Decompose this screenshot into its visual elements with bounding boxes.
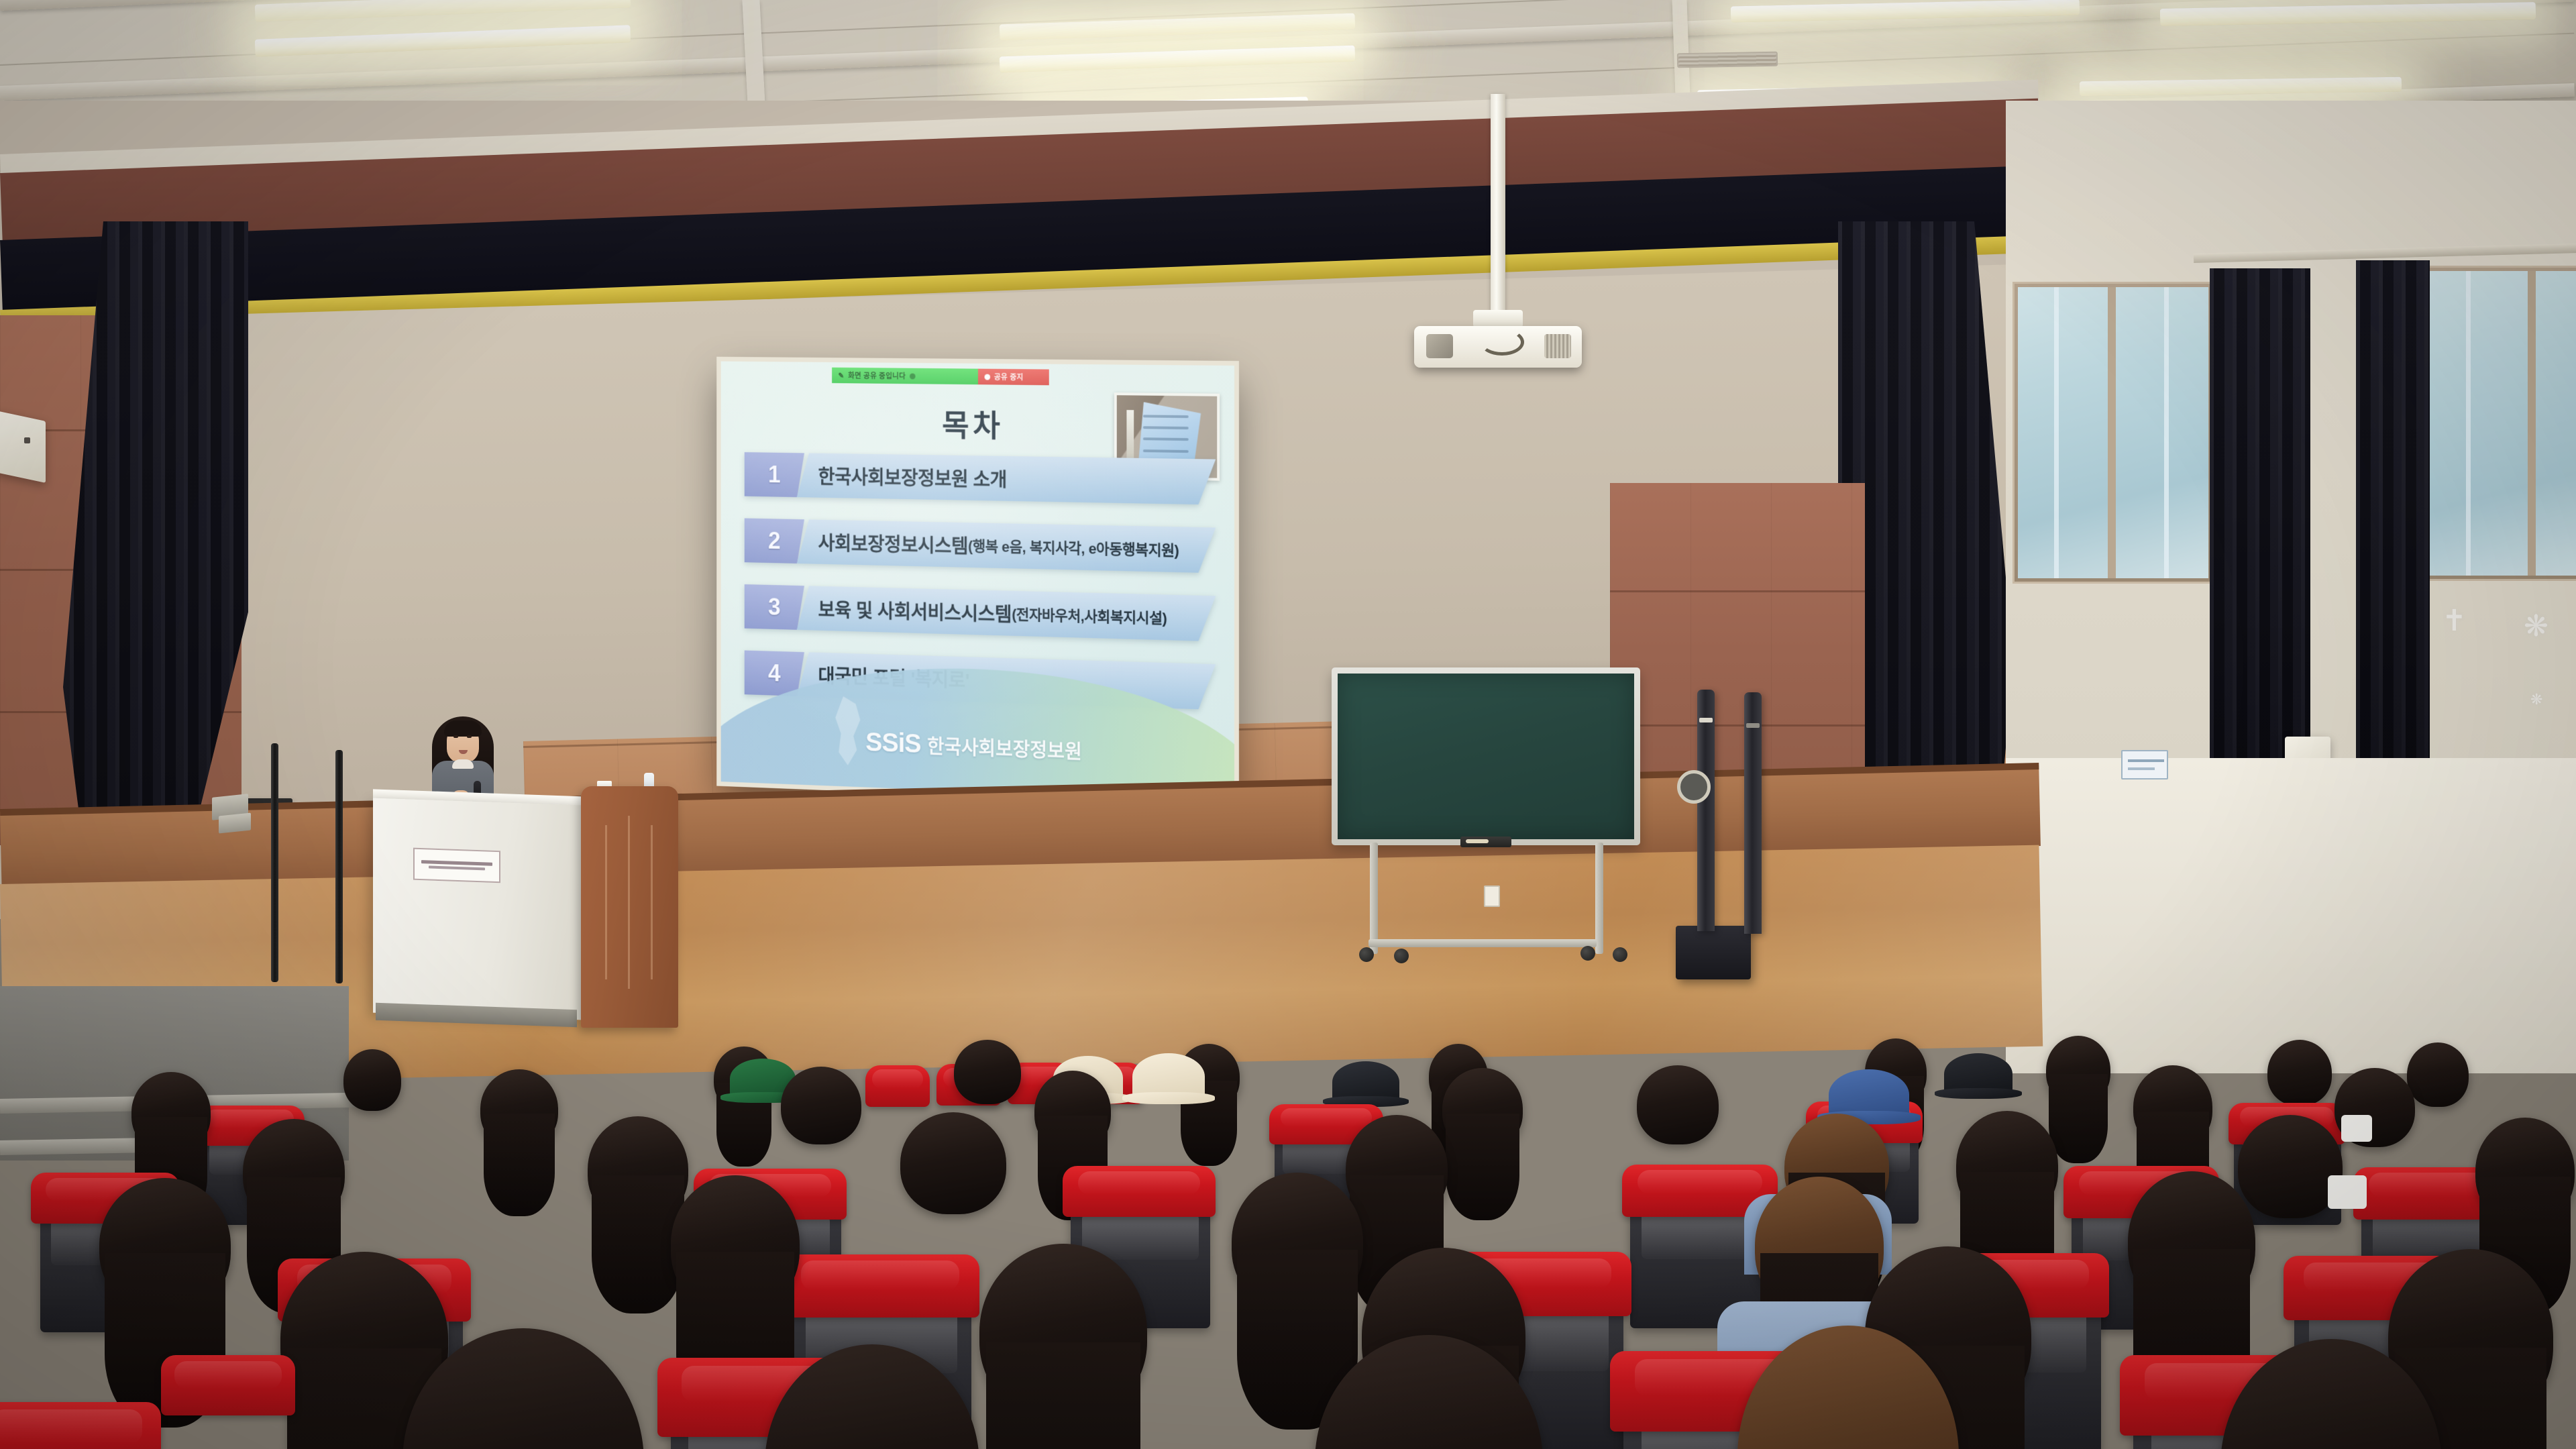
projector-cable xyxy=(1480,329,1524,356)
toc-label-main: 보육 및 사회서비스시스템 xyxy=(818,594,1012,627)
audience-head xyxy=(1637,1065,1719,1144)
audience-head xyxy=(979,1244,1147,1419)
ssis-logo-mark: SSiS xyxy=(865,728,920,759)
face-mask xyxy=(2341,1115,2372,1142)
presenter-eye xyxy=(467,735,472,738)
audience-head xyxy=(1346,1115,1448,1222)
wall-notice-sign xyxy=(2121,750,2168,780)
cap xyxy=(1944,1053,2012,1095)
toc-label-main: 한국사회보장정보원 소개 xyxy=(818,462,1007,492)
seat[interactable] xyxy=(161,1355,295,1415)
audience-head xyxy=(781,1067,861,1144)
cap xyxy=(1332,1061,1399,1103)
audience-head xyxy=(2407,1042,2469,1107)
slide-title: 목차 xyxy=(721,398,1234,449)
wall-clock-or-vent-icon xyxy=(1677,770,1711,804)
cross-decal-icon: ✝ xyxy=(2442,604,2467,638)
stop-share-label: 공유 중지 xyxy=(994,372,1024,382)
seat[interactable] xyxy=(781,1254,979,1318)
window-mullion xyxy=(2528,271,2536,576)
wall-speaker-left xyxy=(0,411,46,483)
mic-stand-head xyxy=(219,812,251,833)
screen-share-toolbar[interactable]: ✎ 화면 공유 중입니다 공유 중지 xyxy=(832,368,1049,386)
ceiling-vent xyxy=(1677,52,1778,68)
toc-label: 보육 및 사회서비스시스템(전자바우처,사회복지시설) xyxy=(797,586,1216,641)
audience-head xyxy=(2133,1065,2212,1148)
audience-head xyxy=(2128,1171,2255,1311)
cap xyxy=(1132,1053,1205,1100)
cap xyxy=(1829,1069,1909,1120)
chalkboard-surface xyxy=(1338,674,1634,839)
ceiling-light xyxy=(255,25,631,56)
ceiling-light xyxy=(255,0,631,22)
toc-item: 1 한국사회보장정보원 소개 xyxy=(745,452,1216,504)
window-mullion xyxy=(2108,287,2116,578)
presenter-fringe xyxy=(444,720,482,737)
toc-label-sub: (전자바우처,사회복지시설) xyxy=(1012,603,1167,629)
toc-item: 3 보육 및 사회서비스시스템(전자바우처,사회복지시설) xyxy=(745,584,1216,641)
stop-dot-icon xyxy=(985,374,991,380)
window-curtain-b xyxy=(2356,260,2430,770)
audience-head xyxy=(2046,1036,2110,1104)
toc-label-main: 사회보장정보시스템 xyxy=(818,528,969,559)
audience-head xyxy=(588,1116,688,1222)
presentation-slide: ✎ 화면 공유 중입니다 공유 중지 목차 xyxy=(721,362,1234,802)
window-curtain-a xyxy=(2210,268,2310,765)
toc-label-sub: (행복 e음, 복지사각, e아동행복지원) xyxy=(968,535,1179,560)
sharing-status-label: 화면 공유 중입니다 xyxy=(848,370,906,381)
column-speaker xyxy=(1697,690,1715,931)
stop-share-button[interactable]: 공유 중지 xyxy=(978,369,1049,386)
audience-head xyxy=(99,1178,231,1312)
toc-number: 2 xyxy=(745,519,804,564)
projector-vent-icon xyxy=(1544,334,1571,358)
projector-pole xyxy=(1491,94,1505,315)
audience-head xyxy=(1956,1111,2058,1220)
ceiling-projector xyxy=(1414,326,1582,368)
audience-area xyxy=(0,926,2576,1449)
audience-head xyxy=(131,1072,211,1152)
window-mullion xyxy=(2054,287,2059,578)
wall-outlet xyxy=(1484,885,1500,907)
audience-head xyxy=(1442,1068,1523,1150)
toc-label: 사회보장정보시스템(행복 e음, 복지사각, e아동행복지원) xyxy=(797,519,1216,573)
toc-number: 1 xyxy=(745,452,804,497)
toc-number: 3 xyxy=(745,584,804,630)
audience-head xyxy=(1755,1177,1884,1313)
audience-head xyxy=(900,1112,1006,1214)
auditorium-scene: ✝ ❋ ❋ ✎ 화면 공유 중입니다 공유 중지 xyxy=(0,0,2576,1449)
pencil-icon: ✎ xyxy=(839,371,845,380)
seat[interactable] xyxy=(0,1402,161,1449)
snowflake-decal-icon: ❋ xyxy=(2530,691,2542,708)
audience-head xyxy=(2267,1040,2332,1106)
ssis-logo-name: 한국사회보장정보원 xyxy=(927,736,1082,763)
record-dot-icon xyxy=(910,373,916,379)
toc-item: 2 사회보장정보시스템(행복 e음, 복지사각, e아동행복지원) xyxy=(745,519,1216,574)
audience-head xyxy=(2238,1115,2343,1218)
audience-head xyxy=(343,1049,401,1111)
seat[interactable] xyxy=(865,1065,930,1107)
speaker-dot-icon xyxy=(24,437,30,443)
window-mullion xyxy=(2164,287,2169,578)
toc-label: 한국사회보장정보원 소개 xyxy=(797,453,1216,504)
window-glass xyxy=(2427,271,2576,576)
seat[interactable] xyxy=(1063,1166,1216,1217)
column-speaker xyxy=(1744,692,1762,934)
projector-lens-icon xyxy=(1426,334,1453,358)
audience-head xyxy=(954,1040,1021,1104)
podium-sign xyxy=(413,848,500,883)
sharing-status-chip: ✎ 화면 공유 중입니다 xyxy=(832,368,978,384)
snowflake-decal-icon: ❋ xyxy=(2524,609,2548,643)
audience-head xyxy=(480,1069,558,1148)
audience-head xyxy=(1034,1071,1111,1151)
chalkboard xyxy=(1332,667,1640,845)
audience-head xyxy=(2475,1118,2575,1224)
projection-screen[interactable]: ✎ 화면 공유 중입니다 공유 중지 목차 xyxy=(721,362,1234,802)
window-mullion xyxy=(2466,271,2471,576)
chalk-piece xyxy=(1466,839,1489,843)
projector-mount xyxy=(1473,310,1523,327)
chalk-tray xyxy=(1460,837,1511,847)
face-mask xyxy=(2328,1175,2367,1209)
audience-head xyxy=(1232,1173,1363,1311)
audience-head xyxy=(671,1175,800,1312)
presenter-eye xyxy=(453,735,458,738)
presenter-collar xyxy=(452,759,474,769)
audience-head xyxy=(243,1119,345,1224)
